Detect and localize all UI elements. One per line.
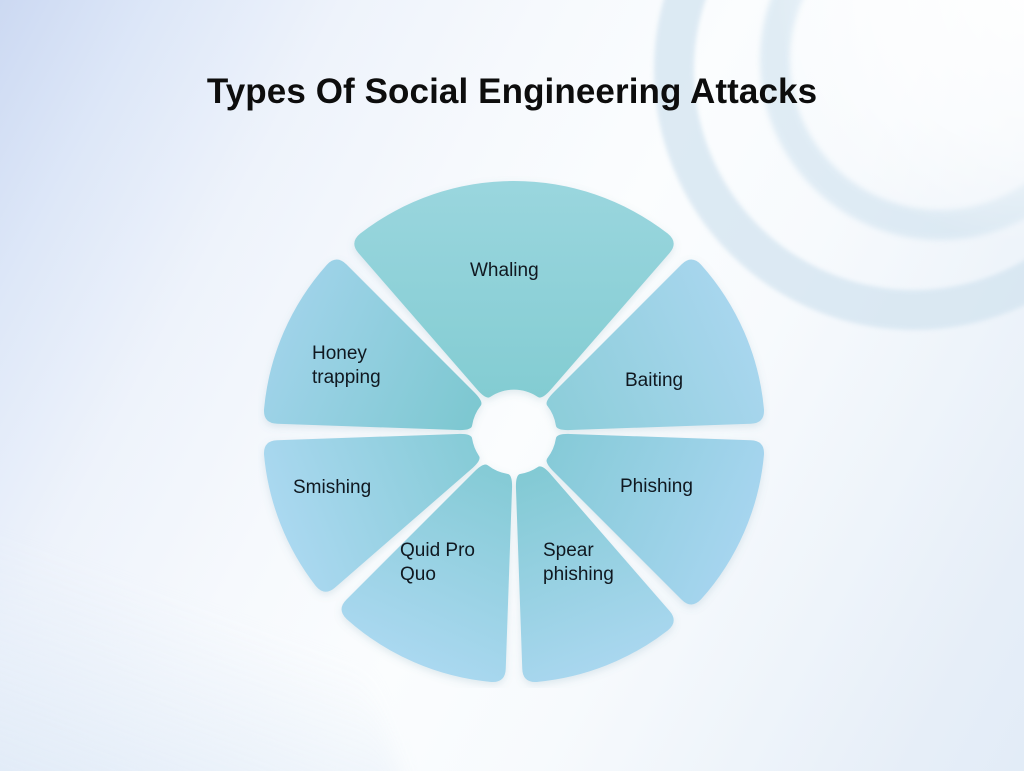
background-corner-fade — [764, 0, 1024, 240]
social-engineering-wheel-chart: Whaling Baiting Phishing Spear phishing … — [258, 176, 770, 688]
page-title: Types Of Social Engineering Attacks — [0, 72, 1024, 112]
diagram-canvas: Types Of Social Engineering Attacks Whal… — [0, 0, 1024, 771]
pie-wheel-svg — [258, 176, 770, 688]
